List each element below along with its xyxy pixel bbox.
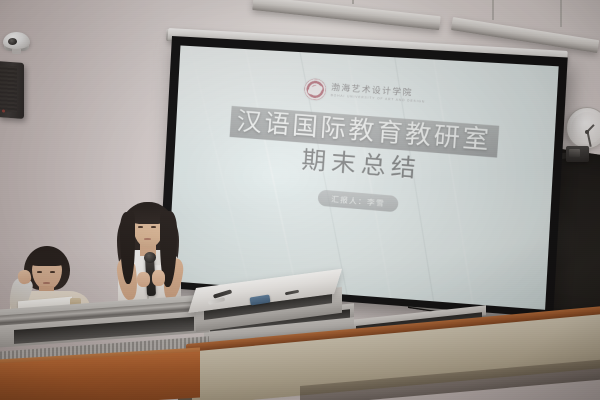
seated-mouth bbox=[43, 282, 50, 284]
presenter-eye-left bbox=[138, 226, 143, 228]
speaker-led bbox=[2, 109, 5, 112]
speaker-icon bbox=[0, 61, 24, 119]
projection-screen-surface: 渤海艺术设计学院 BOHAI UNIVERSITY OF ART AND DES… bbox=[168, 45, 559, 309]
clock-minute-hand bbox=[587, 132, 592, 147]
camera-lens bbox=[8, 38, 17, 45]
intercom-icon bbox=[566, 146, 589, 162]
light-suspension-rod bbox=[492, 0, 494, 20]
seated-eye-right bbox=[50, 271, 55, 273]
classroom-photo: 渤海艺术设计学院 BOHAI UNIVERSITY OF ART AND DES… bbox=[0, 0, 600, 400]
screen-vignette bbox=[168, 45, 559, 309]
clock-center-pin bbox=[585, 130, 589, 134]
intercom-panel bbox=[569, 149, 580, 157]
light-suspension-rod bbox=[352, 0, 354, 4]
camera-mount bbox=[12, 49, 21, 54]
speaker-grille bbox=[0, 65, 17, 112]
seated-eye-left bbox=[37, 271, 42, 273]
presenter-hand-right bbox=[152, 270, 165, 286]
presenter-hair-left bbox=[120, 212, 135, 284]
clock-icon bbox=[566, 107, 600, 149]
presenter-hand-left bbox=[137, 272, 150, 287]
presenter-mouth bbox=[144, 238, 151, 240]
camera-dome bbox=[3, 32, 30, 49]
clock-face bbox=[571, 112, 600, 144]
light-suspension-rod bbox=[560, 0, 562, 27]
projection-screen: 渤海艺术设计学院 BOHAI UNIVERSITY OF ART AND DES… bbox=[158, 36, 567, 318]
presenter-eye-right bbox=[151, 226, 156, 228]
dome-camera-icon bbox=[3, 30, 33, 54]
